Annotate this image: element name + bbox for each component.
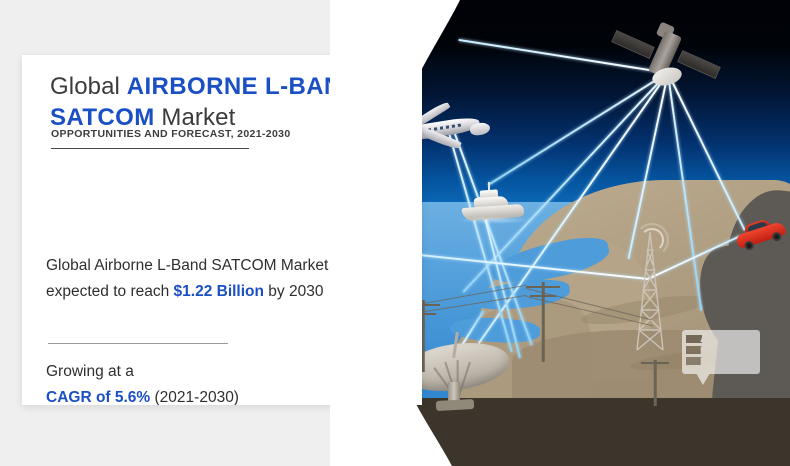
utility-pole-arm (641, 362, 669, 364)
page-subtitle: OPPORTUNITIES AND FORECAST, 2021-2030 (51, 128, 291, 140)
cagr-period: (2021-2030) (150, 389, 239, 405)
watermark-line-3: Research (700, 357, 762, 369)
market-size-value: $1.22 Billion (174, 283, 264, 300)
statement-divider (48, 343, 228, 344)
watermark-bubble-tail (696, 373, 710, 385)
satellite-solar-panel-left (611, 30, 655, 59)
satellite-solar-panel-right (677, 50, 721, 79)
ship-wake (458, 216, 530, 224)
page-title: Global AIRBORNE L-BAND SATCOM Market (50, 71, 390, 133)
comm-tower-signal-ring (635, 223, 669, 257)
ship-icon (458, 182, 530, 228)
title-tail: Market (155, 104, 236, 131)
comm-tower-icon (630, 232, 670, 352)
title-lead: Global (50, 73, 127, 100)
utility-pole-post (542, 282, 545, 362)
watermark-line-1: Allied (700, 334, 762, 346)
satellite-icon (608, 14, 728, 100)
cagr-value: CAGR of 5.6% (46, 389, 150, 405)
watermark-logo: Allied Market Research (682, 330, 768, 388)
airplane-nose (469, 122, 491, 137)
content-card: Global AIRBORNE L-BAND SATCOM Market OPP… (22, 55, 422, 405)
utility-pole-arm (526, 286, 560, 288)
cagr-text-part-1: Growing at a (46, 363, 134, 380)
utility-pole-post (654, 360, 657, 406)
market-size-statement: Global Airborne L-Band SATCOM Market is … (46, 253, 376, 305)
watermark-text: Allied Market Research (700, 334, 762, 369)
infographic-canvas: Allied Market Research Global AIRBORNE L… (0, 0, 790, 466)
utility-pole (640, 360, 670, 406)
market-size-text-part-2: by 2030 (264, 283, 323, 300)
cagr-statement: Growing at aCAGR of 5.6% (2021-2030) (46, 359, 376, 405)
subtitle-divider (51, 148, 249, 149)
watermark-bubble: Allied Market Research (682, 330, 760, 374)
utility-pole (526, 282, 560, 362)
ground-dish-base (436, 399, 474, 411)
